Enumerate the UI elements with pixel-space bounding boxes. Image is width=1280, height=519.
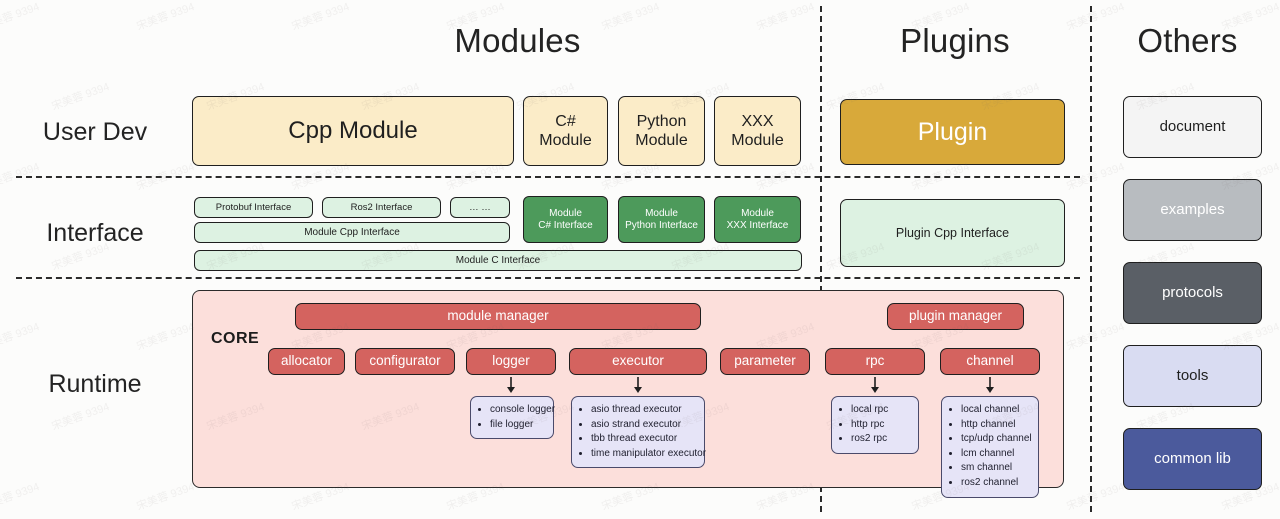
others-box-document-label: document bbox=[1160, 118, 1226, 136]
arrow-down-icon bbox=[631, 377, 645, 393]
module-box-cpp-label: Cpp Module bbox=[288, 117, 417, 146]
column-title-modules: Modules bbox=[190, 22, 845, 60]
core-detail-list-rpc: local rpchttp rpcros2 rpc bbox=[831, 396, 919, 454]
core-plugin-manager[interactable]: plugin manager bbox=[887, 303, 1024, 330]
interface-box-ros2-label: Ros2 Interface bbox=[351, 202, 413, 213]
arrow-down-icon bbox=[504, 377, 518, 393]
core-component-channel[interactable]: channel bbox=[940, 348, 1040, 375]
watermark: 宋美蓉 9394 bbox=[134, 318, 196, 354]
core-component-rpc[interactable]: rpc bbox=[825, 348, 925, 375]
others-box-examples-label: examples bbox=[1160, 201, 1224, 219]
core-component-logger[interactable]: logger bbox=[466, 348, 556, 375]
core-component-allocator[interactable]: allocator bbox=[268, 348, 345, 375]
row-label-interface: Interface bbox=[10, 219, 180, 248]
interface-box-module-cpp-label: Module Cpp Interface bbox=[304, 227, 400, 239]
interface-box-protobuf-label: Protobuf Interface bbox=[216, 202, 292, 213]
core-component-channel-label: channel bbox=[966, 353, 1013, 369]
column-divider-plugins-others bbox=[1090, 6, 1092, 512]
module-box-xxx[interactable]: XXXModule bbox=[714, 96, 801, 166]
watermark: 宋美蓉 9394 bbox=[49, 78, 111, 114]
interface-box-ros2[interactable]: Ros2 Interface bbox=[322, 197, 441, 218]
arrow-down-icon bbox=[983, 377, 997, 393]
core-detail-list-executor: asio thread executorasio strand executor… bbox=[571, 396, 705, 468]
module-box-c[interactable]: C#Module bbox=[523, 96, 608, 166]
arrow-down-icon bbox=[868, 377, 882, 393]
interface-box-module-c-label: Module C Interface bbox=[456, 255, 541, 267]
interface-box-module-xxx-label: XXX Interface bbox=[727, 220, 789, 232]
interface-box-ellipsis[interactable]: … … bbox=[450, 197, 510, 218]
core-component-logger-label: logger bbox=[492, 353, 530, 369]
interface-box-plugin-cpp-label: Plugin Cpp Interface bbox=[896, 226, 1009, 241]
list-item: http channel bbox=[961, 418, 1030, 433]
watermark: 宋美蓉 9394 bbox=[49, 398, 111, 434]
module-box-python-label: Module bbox=[635, 131, 687, 150]
interface-box-module-c[interactable]: Module C Interface bbox=[194, 250, 802, 271]
list-item: tcp/udp channel bbox=[961, 432, 1030, 447]
core-component-executor-label: executor bbox=[612, 353, 664, 369]
list-item: ros2 rpc bbox=[851, 432, 910, 447]
watermark: 宋美蓉 9394 bbox=[1064, 318, 1126, 354]
watermark: 宋美蓉 9394 bbox=[134, 0, 196, 34]
column-title-plugins: Plugins bbox=[825, 22, 1085, 60]
others-box-tools[interactable]: tools bbox=[1123, 345, 1262, 407]
others-box-common-lib-label: common lib bbox=[1154, 450, 1231, 468]
interface-box-module-python-label: Python Interface bbox=[625, 220, 698, 232]
module-box-c-label: Module bbox=[539, 131, 591, 150]
watermark: 宋美蓉 9394 bbox=[1064, 478, 1126, 514]
others-box-protocols-label: protocols bbox=[1162, 284, 1223, 302]
list-item: tbb thread executor bbox=[591, 432, 696, 447]
module-box-xxx-label: XXX bbox=[741, 112, 773, 131]
plugin-box[interactable]: Plugin bbox=[840, 99, 1065, 165]
list-item: local channel bbox=[961, 403, 1030, 418]
others-box-common-lib[interactable]: common lib bbox=[1123, 428, 1262, 490]
watermark: 宋美蓉 9394 bbox=[134, 478, 196, 514]
row-divider-user-dev bbox=[16, 176, 1080, 178]
interface-box-module-xxx[interactable]: ModuleXXX Interface bbox=[714, 196, 801, 243]
core-label: CORE bbox=[211, 330, 259, 348]
list-item: sm channel bbox=[961, 461, 1030, 476]
core-component-parameter[interactable]: parameter bbox=[720, 348, 810, 375]
watermark: 宋美蓉 9394 bbox=[0, 318, 41, 354]
interface-box-module-cpp[interactable]: Module Cpp Interface bbox=[194, 222, 510, 243]
row-label-user-dev: User Dev bbox=[10, 118, 180, 147]
interface-box-module-c-label: Module bbox=[549, 208, 582, 220]
core-component-configurator[interactable]: configurator bbox=[355, 348, 455, 375]
interface-box-protobuf[interactable]: Protobuf Interface bbox=[194, 197, 313, 218]
diagram-canvas: 宋美蓉 9394宋美蓉 9394宋美蓉 9394宋美蓉 9394宋美蓉 9394… bbox=[0, 0, 1280, 519]
list-item: local rpc bbox=[851, 403, 910, 418]
list-item: ros2 channel bbox=[961, 476, 1030, 491]
module-box-c-label: C# bbox=[555, 112, 575, 131]
others-box-examples[interactable]: examples bbox=[1123, 179, 1262, 241]
list-item: asio thread executor bbox=[591, 403, 696, 418]
list-item: asio strand executor bbox=[591, 418, 696, 433]
core-detail-list-channel: local channelhttp channeltcp/udp channel… bbox=[941, 396, 1039, 498]
watermark: 宋美蓉 9394 bbox=[0, 478, 41, 514]
row-label-runtime: Runtime bbox=[10, 370, 180, 399]
interface-box-module-xxx-label: Module bbox=[741, 208, 774, 220]
core-component-executor[interactable]: executor bbox=[569, 348, 707, 375]
core-module-manager[interactable]: module manager bbox=[295, 303, 701, 330]
core-component-rpc-label: rpc bbox=[866, 353, 885, 369]
interface-box-plugin-cpp[interactable]: Plugin Cpp Interface bbox=[840, 199, 1065, 267]
core-component-configurator-label: configurator bbox=[369, 353, 440, 369]
watermark: 宋美蓉 9394 bbox=[0, 0, 41, 34]
interface-box-module-python-label: Module bbox=[645, 208, 678, 220]
interface-box-module-c-label: C# Interface bbox=[538, 220, 592, 232]
core-component-allocator-label: allocator bbox=[281, 353, 332, 369]
list-item: time manipulator executor bbox=[591, 447, 696, 462]
plugin-box-label: Plugin bbox=[918, 117, 988, 147]
interface-box-module-c[interactable]: ModuleC# Interface bbox=[523, 196, 608, 243]
module-box-cpp[interactable]: Cpp Module bbox=[192, 96, 514, 166]
others-box-document[interactable]: document bbox=[1123, 96, 1262, 158]
core-component-parameter-label: parameter bbox=[734, 353, 796, 369]
list-item: lcm channel bbox=[961, 447, 1030, 462]
others-box-tools-label: tools bbox=[1177, 367, 1209, 385]
module-box-python-label: Python bbox=[637, 112, 687, 131]
row-divider-interface bbox=[16, 277, 1080, 279]
list-item: http rpc bbox=[851, 418, 910, 433]
column-title-others: Others bbox=[1095, 22, 1280, 60]
list-item: file logger bbox=[490, 418, 545, 433]
interface-box-module-python[interactable]: ModulePython Interface bbox=[618, 196, 705, 243]
core-plugin-manager-label: plugin manager bbox=[909, 308, 1002, 324]
interface-box-ellipsis-label: … … bbox=[469, 202, 491, 213]
module-box-xxx-label: Module bbox=[731, 131, 783, 150]
core-detail-list-logger: console loggerfile logger bbox=[470, 396, 554, 439]
core-module-manager-label: module manager bbox=[447, 308, 548, 324]
others-box-protocols[interactable]: protocols bbox=[1123, 262, 1262, 324]
list-item: console logger bbox=[490, 403, 545, 418]
module-box-python[interactable]: PythonModule bbox=[618, 96, 705, 166]
